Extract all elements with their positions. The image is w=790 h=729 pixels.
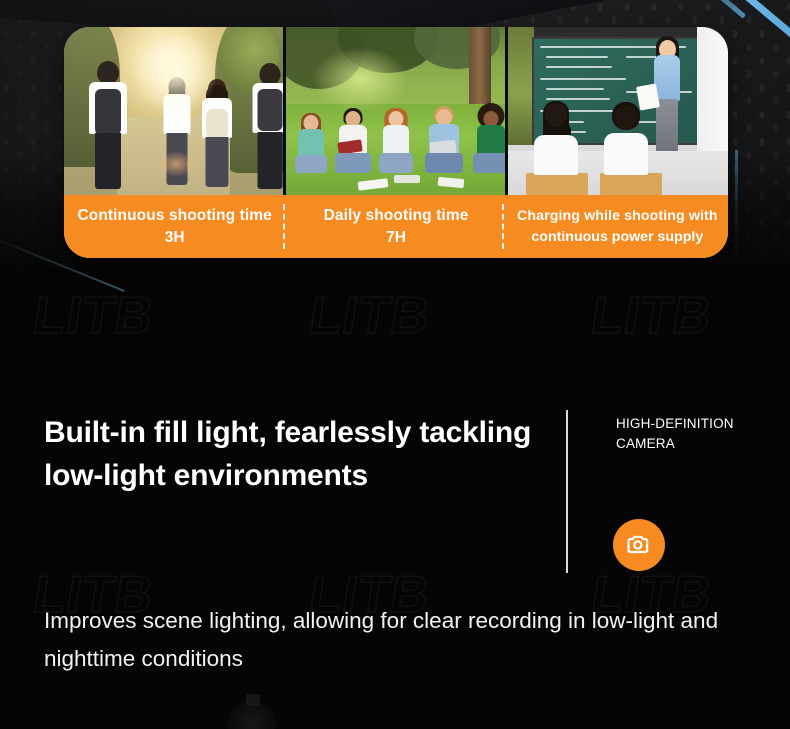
spec-value: 7H: [386, 227, 406, 249]
feature-side-label: HIGH-DEFINITION CAMERA: [616, 414, 776, 453]
spec-banner: Continuous shooting time 3H Daily shooti…: [64, 195, 728, 258]
gallery-image-classroom: [508, 27, 728, 195]
spec-item-daily-shooting: Daily shooting time 7H: [285, 195, 506, 258]
spec-label: Charging while shooting with: [517, 206, 718, 226]
bottom-decoration-accent: [246, 694, 260, 706]
feature-subtext: Improves scene lighting, allowing for cl…: [44, 602, 744, 678]
spec-label: Daily shooting time: [324, 205, 469, 227]
spec-value: continuous power supply: [531, 227, 703, 247]
spec-divider: [502, 204, 504, 249]
spec-divider: [283, 204, 285, 249]
watermark-litb: LITB: [587, 286, 716, 346]
spec-label: Continuous shooting time: [77, 205, 271, 227]
feature-headline: Built-in fill light, fearlessly tackling…: [44, 412, 544, 497]
watermark-litb: LITB: [29, 286, 158, 346]
spec-item-charging-while-shooting: Charging while shooting with continuous …: [507, 195, 728, 258]
gallery-image-students-on-grass: [286, 27, 505, 195]
gallery-photo-row: [64, 27, 728, 195]
camera-icon: [625, 531, 653, 559]
product-feature-page: LITB LITB LITB LITB LITB LITB: [0, 0, 790, 729]
camera-badge: [613, 519, 665, 571]
gallery-image-students-walking: [64, 27, 283, 195]
spec-item-continuous-shooting: Continuous shooting time 3H: [64, 195, 285, 258]
spec-value: 3H: [165, 227, 185, 249]
vertical-divider: [566, 410, 568, 573]
watermark-litb: LITB: [305, 286, 434, 346]
